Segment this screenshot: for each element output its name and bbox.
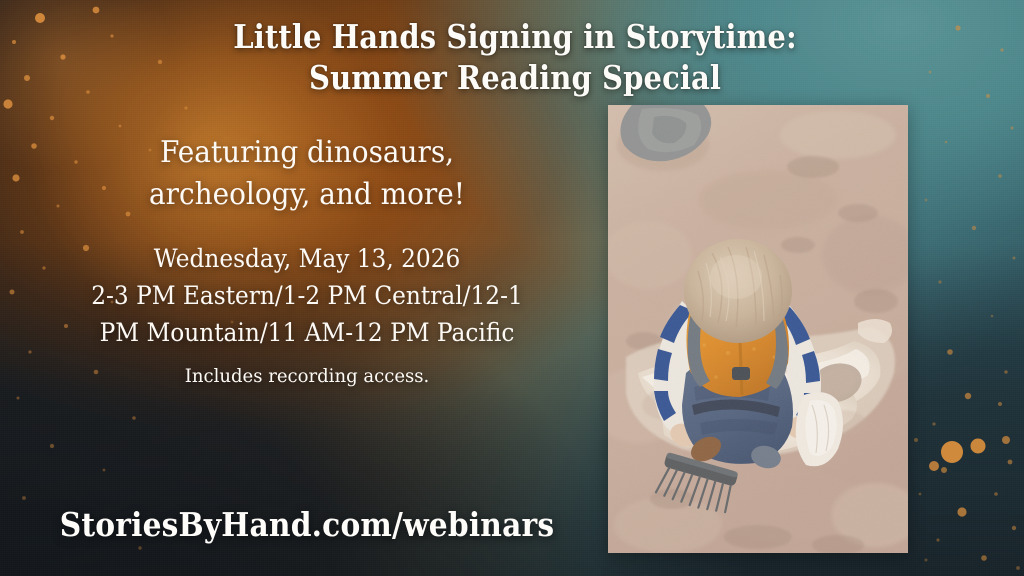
recording-access-note: Includes recording access. <box>32 363 581 389</box>
title-line-1: Little Hands Signing in Storytime: <box>159 16 872 57</box>
tagline-line-1: Featuring dinosaurs, <box>38 132 576 174</box>
registration-url[interactable]: StoriesByHand.com/webinars <box>47 505 567 544</box>
event-date: Wednesday, May 13, 2026 <box>38 240 576 277</box>
title-line-2: Summer Reading Special <box>159 57 872 98</box>
event-times-1: 2-3 PM Eastern/1-2 PM Central/12-1 <box>38 277 576 314</box>
poster-tagline: Featuring dinosaurs, archeology, and mor… <box>38 132 576 216</box>
event-times-2: PM Mountain/11 AM-12 PM Pacific <box>38 314 576 351</box>
event-photo <box>608 105 908 553</box>
event-datetime: Wednesday, May 13, 2026 2-3 PM Eastern/1… <box>38 240 576 351</box>
child-excavating-dinosaur-fossil-illustration <box>608 105 908 553</box>
promotional-poster: Little Hands Signing in Storytime: Summe… <box>0 0 1024 576</box>
poster-copy-column: Featuring dinosaurs, archeology, and mor… <box>18 132 596 389</box>
poster-title: Little Hands Signing in Storytime: Summe… <box>159 16 872 98</box>
tagline-line-2: archeology, and more! <box>38 174 576 216</box>
